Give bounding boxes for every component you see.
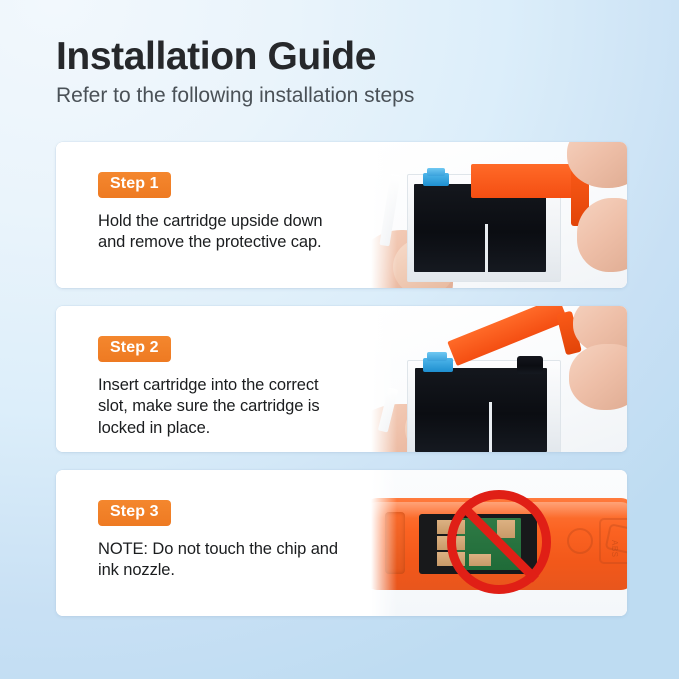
step-card-1: Step 1 Hold the cartridge upside down an… — [56, 142, 627, 288]
step-card-3: Step 3 NOTE: Do not touch the chip and i… — [56, 470, 627, 616]
cartridge-side-notch — [385, 512, 405, 574]
cartridge-port — [517, 356, 543, 374]
step-3-scene: ABS — [371, 470, 627, 616]
header: Installation Guide Refer to the followin… — [56, 36, 636, 108]
cartridge-ink-divider — [485, 224, 488, 272]
recycle-material-label: ABS — [610, 540, 619, 558]
step-1-photo — [371, 142, 627, 288]
step-card-2: Step 2 Insert cartridge into the correct… — [56, 306, 627, 452]
step-1-description: Hold the cartridge upside down and remov… — [98, 211, 350, 254]
step-1-text-panel: Step 1 Hold the cartridge upside down an… — [56, 142, 371, 288]
step-2-badge: Step 2 — [98, 336, 171, 362]
page-subtitle: Refer to the following installation step… — [56, 84, 636, 108]
installation-guide-page: Installation Guide Refer to the followin… — [0, 0, 679, 679]
step-2-text-panel: Step 2 Insert cartridge into the correct… — [56, 306, 371, 452]
blue-tab-top — [427, 168, 445, 176]
step-3-text-panel: Step 3 NOTE: Do not touch the chip and i… — [56, 470, 371, 616]
emboss-circle-marking — [567, 528, 593, 554]
step-1-scene — [371, 142, 627, 288]
step-2-scene — [371, 306, 627, 452]
orange-protective-cap — [471, 164, 581, 198]
step-2-description: Insert cartridge into the correct slot, … — [98, 375, 350, 439]
step-3-description: NOTE: Do not touch the chip and ink nozz… — [98, 539, 350, 582]
pulling-hand-thumb — [569, 344, 627, 410]
step-2-photo — [371, 306, 627, 452]
orange-cap-lifted — [447, 306, 568, 366]
page-title: Installation Guide — [56, 36, 636, 78]
step-1-badge: Step 1 — [98, 172, 171, 198]
cartridge-ink-divider-2 — [489, 402, 492, 452]
steps-list: Step 1 Hold the cartridge upside down an… — [56, 142, 627, 616]
step-3-badge: Step 3 — [98, 500, 171, 526]
blue-tab-2-top — [427, 352, 447, 361]
prohibition-icon — [447, 490, 551, 594]
step-3-photo: ABS — [371, 470, 627, 616]
cartridge-ink-window-2 — [415, 368, 547, 452]
